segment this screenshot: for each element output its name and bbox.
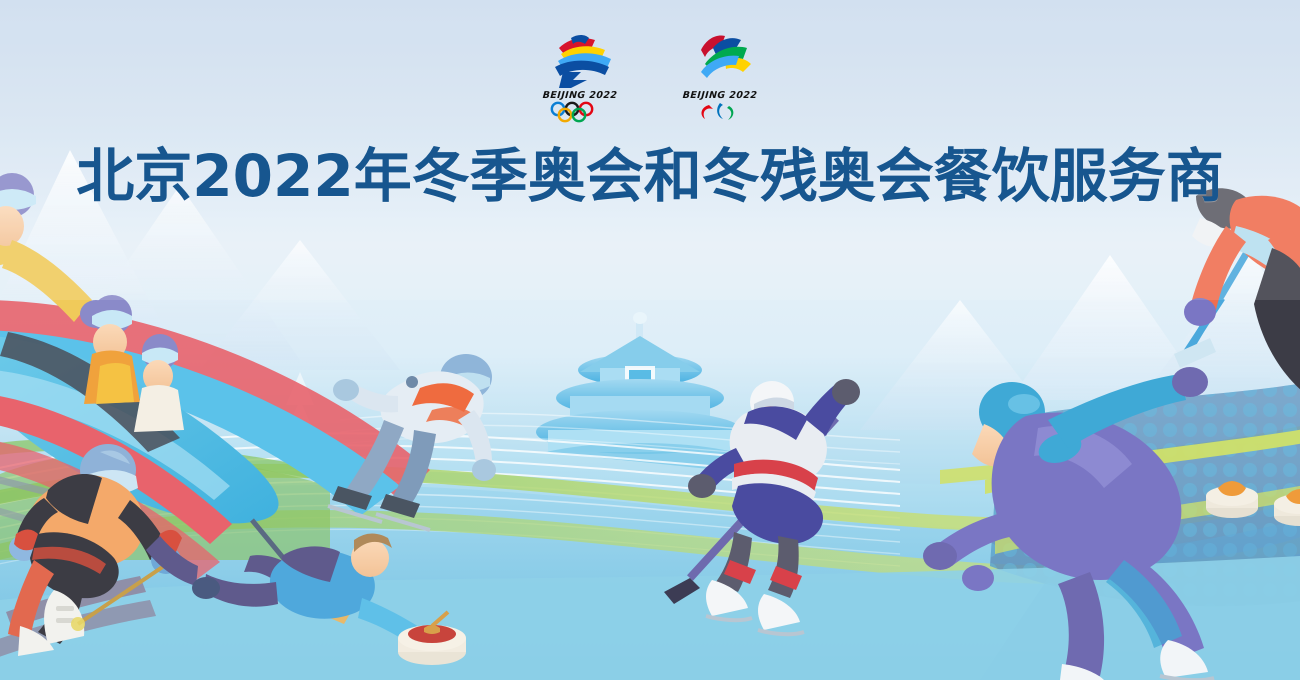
emblem-olympic: BEIJING 2022 xyxy=(532,32,628,123)
emblem-row: BEIJING 2022 BEIJING 2022 xyxy=(0,32,1300,123)
paralympic-agitos-icon xyxy=(687,101,753,123)
olympic-emblem-mark xyxy=(541,32,619,88)
beijing-2022-banner: BEIJING 2022 BEIJING 2022 xyxy=(0,0,1300,680)
emblem-paralympic: BEIJING 2022 xyxy=(672,32,768,123)
olympic-emblem-wordmark: BEIJING 2022 xyxy=(532,90,629,101)
paralympic-emblem-mark xyxy=(681,32,759,88)
paralympic-emblem-wordmark: BEIJING 2022 xyxy=(672,90,769,101)
olympic-rings-icon xyxy=(547,101,613,123)
